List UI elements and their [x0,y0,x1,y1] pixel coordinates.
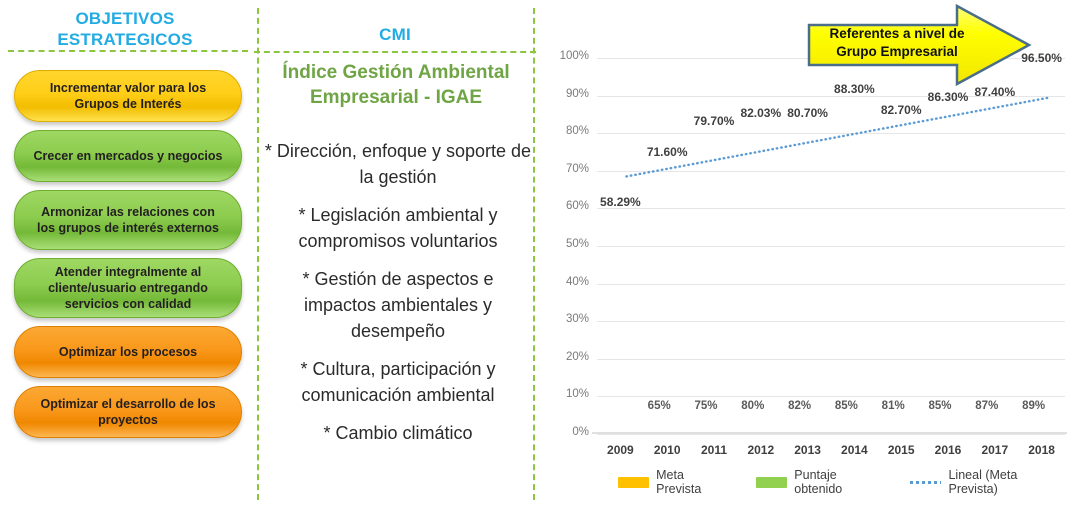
cmi-title: CMI [250,24,540,45]
cmi-column: CMI Índice Gestión Ambiental Empresarial… [250,0,540,515]
bar-value-label-meta: 85% [826,400,866,412]
legend-item-meta-prevista[interactable]: Meta Prevista [618,468,726,496]
left-header-divider [8,50,248,52]
bar-value-label-meta: 82% [780,400,820,412]
objective-label: Crecer en mercados y negocios [34,148,223,164]
objective-pill-incrementar-valor[interactable]: Incrementar valor para los Grupos de Int… [14,70,242,122]
objective-pill-optimizar-procesos[interactable]: Optimizar los procesos [14,326,242,378]
chart-x-tick-label: 2012 [738,443,784,457]
chart-x-tick-label: 2011 [691,443,737,457]
objective-pill-armonizar-relaciones[interactable]: Armonizar las relaciones con los grupos … [14,190,242,250]
bar-value-label-puntaje: 82.70% [872,103,930,117]
cmi-bullet-item: * Gestión de aspectos e impactos ambient… [264,266,532,344]
cmi-header-divider [254,51,536,53]
bar-value-label-puntaje: 71.60% [638,145,696,159]
cmi-bullet-list: * Dirección, enfoque y soporte de la ges… [264,138,532,458]
chart-x-tick-label: 2009 [597,443,643,457]
bar-value-label-meta: 89% [1014,400,1054,412]
slide-root: OBJETIVOS ESTRATEGICOS Incrementar valor… [0,0,1078,515]
chart-x-tick-label: 2017 [972,443,1018,457]
bar-value-label-meta: 75% [686,400,726,412]
bar-value-label-puntaje: 87.40% [966,85,1024,99]
chart-y-tick-label: 80% [551,125,589,137]
objective-label: Incrementar valor para los Grupos de Int… [31,80,225,112]
chart-y-tick-label: 0% [551,426,589,438]
chart-y-tick-label: 100% [551,50,589,62]
objetivos-estrategicos-title: OBJETIVOS ESTRATEGICOS [0,8,250,50]
chart-y-tick-label: 60% [551,200,589,212]
chart-x-tick-label: 2010 [644,443,690,457]
chart-y-tick-label: 90% [551,88,589,100]
cmi-bullet-item: * Cultura, participación y comunicación … [264,356,532,408]
chart-y-tick-label: 10% [551,388,589,400]
referentes-callout-arrow: Referentes a nivel de Grupo Empresarial [805,3,1033,87]
cmi-right-divider [533,8,535,500]
bar-value-label-meta: 80% [733,400,773,412]
cmi-left-divider [257,8,259,500]
bar-value-label-puntaje: 80.70% [779,106,837,120]
legend-item-lineal-meta-prevista[interactable]: Lineal (Meta Prevista) [910,468,1060,496]
objective-label: Armonizar las relaciones con los grupos … [31,204,225,236]
bar-value-label-puntaje: 88.30% [825,82,883,96]
legend-label: Puntaje obtenido [794,468,880,496]
bar-value-label-puntaje: 58.29% [591,195,649,209]
callout-text: Referentes a nivel de Grupo Empresarial [817,25,977,61]
legend-dotted-line-icon [910,481,941,484]
objective-label: Optimizar el desarrollo de los proyectos [31,396,225,428]
chart-legend: Meta Prevista Puntaje obtenido Lineal (M… [600,470,1060,494]
cmi-heading: Índice Gestión Ambiental Empresarial - I… [268,60,524,110]
chart-x-tick-label: 2016 [925,443,971,457]
chart-gridline [597,434,1065,435]
bar-value-label-meta: 65% [639,400,679,412]
legend-item-puntaje-obtenido[interactable]: Puntaje obtenido [756,468,880,496]
chart-y-tick-label: 50% [551,238,589,250]
chart-x-tick-label: 2013 [785,443,831,457]
objective-label: Optimizar los procesos [59,344,197,360]
bar-value-label-meta: 85% [920,400,960,412]
chart-x-tick-label: 2015 [878,443,924,457]
legend-label: Meta Prevista [656,468,726,496]
bar-value-label-meta: 81% [873,400,913,412]
cmi-bullet-item: * Cambio climático [264,420,532,446]
objective-pill-optimizar-proyectos[interactable]: Optimizar el desarrollo de los proyectos [14,386,242,438]
objectives-list: Incrementar valor para los Grupos de Int… [14,70,242,500]
chart-y-tick-label: 20% [551,351,589,363]
objetivos-estrategicos-column: OBJETIVOS ESTRATEGICOS Incrementar valor… [0,0,250,515]
chart-x-tick-label: 2014 [831,443,877,457]
chart-y-tick-label: 40% [551,276,589,288]
objective-pill-crecer-mercados[interactable]: Crecer en mercados y negocios [14,130,242,182]
cmi-bullet-item: * Legislación ambiental y compromisos vo… [264,202,532,254]
chart-x-tick-label: 2018 [1019,443,1065,457]
legend-swatch-icon [756,477,787,488]
cmi-bullet-item: * Dirección, enfoque y soporte de la ges… [264,138,532,190]
bar-value-label-puntaje: 96.50% [1013,51,1071,65]
legend-swatch-icon [618,477,649,488]
objective-pill-atender-cliente[interactable]: Atender integralmente al cliente/usuario… [14,258,242,318]
objetivos-title-line1: OBJETIVOS [0,8,250,29]
legend-label: Lineal (Meta Prevista) [948,468,1060,496]
chart-y-tick-label: 30% [551,313,589,325]
chart-y-tick-label: 70% [551,163,589,175]
bar-value-label-meta: 87% [967,400,1007,412]
objective-label: Atender integralmente al cliente/usuario… [31,264,225,312]
objetivos-title-line2: ESTRATEGICOS [0,29,250,50]
